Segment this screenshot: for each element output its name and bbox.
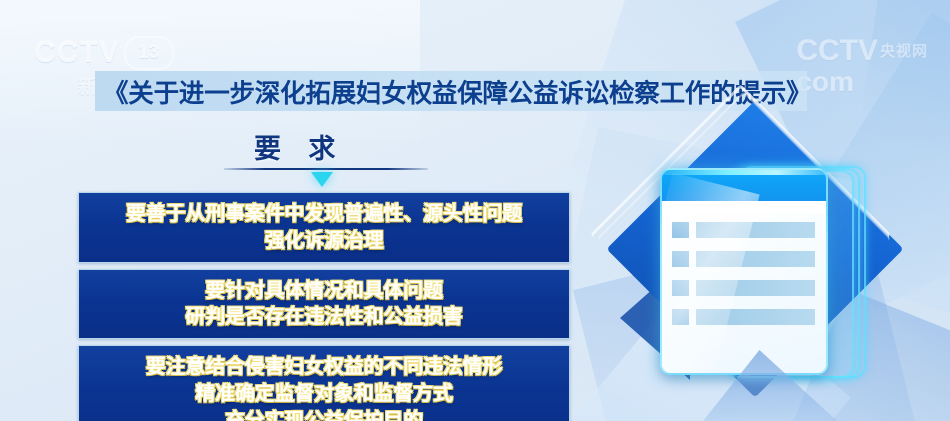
requirement-line: 要善于从刑事案件中发现普遍性、源头性问题: [89, 200, 559, 227]
requirement-block: 要善于从刑事案件中发现普遍性、源头性问题 强化诉源治理: [78, 192, 570, 263]
document-text-bar: [696, 309, 815, 325]
document-text-bar: [696, 222, 815, 238]
section-heading: 要 求: [245, 127, 344, 166]
requirement-line: 强化诉源治理: [89, 227, 559, 254]
document-line-row: [672, 222, 815, 238]
section-heading-underline: [224, 168, 428, 170]
document-bullet-icon: [672, 222, 689, 238]
background-facet: [0, 0, 420, 140]
document-bullet-icon: [672, 251, 689, 267]
requirement-line: 要注意结合侵害妇女权益的不同违法情形: [89, 353, 559, 380]
requirement-list: 要善于从刑事案件中发现普遍性、源头性问题 强化诉源治理 要针对具体情况和具体问题…: [78, 192, 570, 421]
document-line-row: [672, 251, 815, 267]
requirement-line: 充分实现公益保护目的: [89, 407, 559, 421]
document-text-bar: [696, 280, 815, 296]
requirement-block: 要针对具体情况和具体问题 研判是否存在违法性和公益损害: [78, 269, 570, 340]
document-text-bar: [696, 251, 815, 267]
document-bullet-icon: [672, 280, 689, 296]
document-icon: [660, 168, 828, 375]
document-illustration: [628, 128, 928, 421]
document-header-gap: [662, 201, 826, 213]
document-body: [662, 213, 826, 373]
page-title: 《关于进一步深化拓展妇女权益保障公益诉讼检察工作的提示》: [103, 71, 803, 111]
broadcast-graphic-screen: CCTV 13 新闻 CCTV com 央视网 《关于进一步深化拓展妇女权益保障…: [0, 0, 950, 421]
requirement-line: 研判是否存在违法性和公益损害: [89, 303, 559, 330]
document-line-row: [672, 309, 815, 325]
requirement-line: 精准确定监督对象和监督方式: [89, 380, 559, 407]
document-bullet-icon: [672, 309, 689, 325]
document-header-band: [662, 175, 826, 201]
requirement-line: 要针对具体情况和具体问题: [89, 277, 559, 304]
chevron-down-icon: [311, 172, 333, 187]
requirement-block: 要注意结合侵害妇女权益的不同违法情形 精准确定监督对象和监督方式 充分实现公益保…: [78, 345, 570, 421]
document-line-row: [672, 280, 815, 296]
